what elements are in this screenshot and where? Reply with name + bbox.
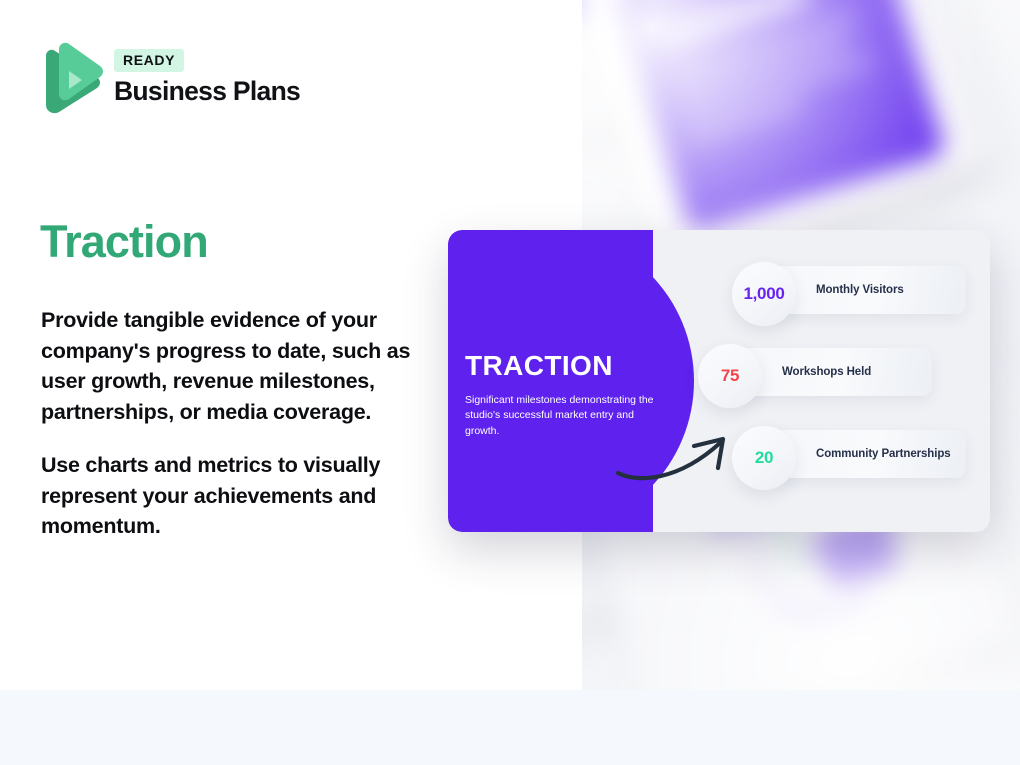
- card-title: TRACTION: [465, 352, 613, 380]
- slide-canvas: READY Business Plans Traction Provide ta…: [0, 0, 1020, 765]
- bottom-band: [0, 690, 1020, 765]
- page-title: Traction: [40, 218, 208, 265]
- curved-arrow-up-right-icon: [616, 425, 746, 485]
- brand-text: READY Business Plans: [114, 49, 300, 106]
- brand-name: Business Plans: [114, 77, 300, 106]
- metric-pill: Workshops Held: [732, 348, 932, 396]
- traction-preview-card: TRACTION Significant milestones demonstr…: [448, 230, 990, 532]
- play-logo-icon: [42, 40, 104, 116]
- metric-badge: 1,000: [732, 262, 796, 326]
- metric-label: Workshops Held: [782, 365, 871, 380]
- metric-badge: 75: [698, 344, 762, 408]
- ready-badge: READY: [114, 49, 184, 72]
- metric-label: Community Partnerships: [816, 447, 951, 462]
- metric-value: 75: [721, 366, 739, 386]
- body-copy: Provide tangible evidence of your compan…: [41, 305, 423, 542]
- metric-pill: Community Partnerships: [766, 430, 966, 478]
- metric-value: 20: [755, 448, 773, 468]
- metric-value: 1,000: [743, 284, 784, 304]
- brand-lockup: READY Business Plans: [42, 40, 300, 116]
- body-paragraph-2: Use charts and metrics to visually repre…: [41, 450, 423, 542]
- metric-label: Monthly Visitors: [816, 283, 904, 298]
- metric-pill: Monthly Visitors: [766, 266, 966, 314]
- card-accent-circle: [448, 230, 694, 532]
- body-paragraph-1: Provide tangible evidence of your compan…: [41, 305, 423, 428]
